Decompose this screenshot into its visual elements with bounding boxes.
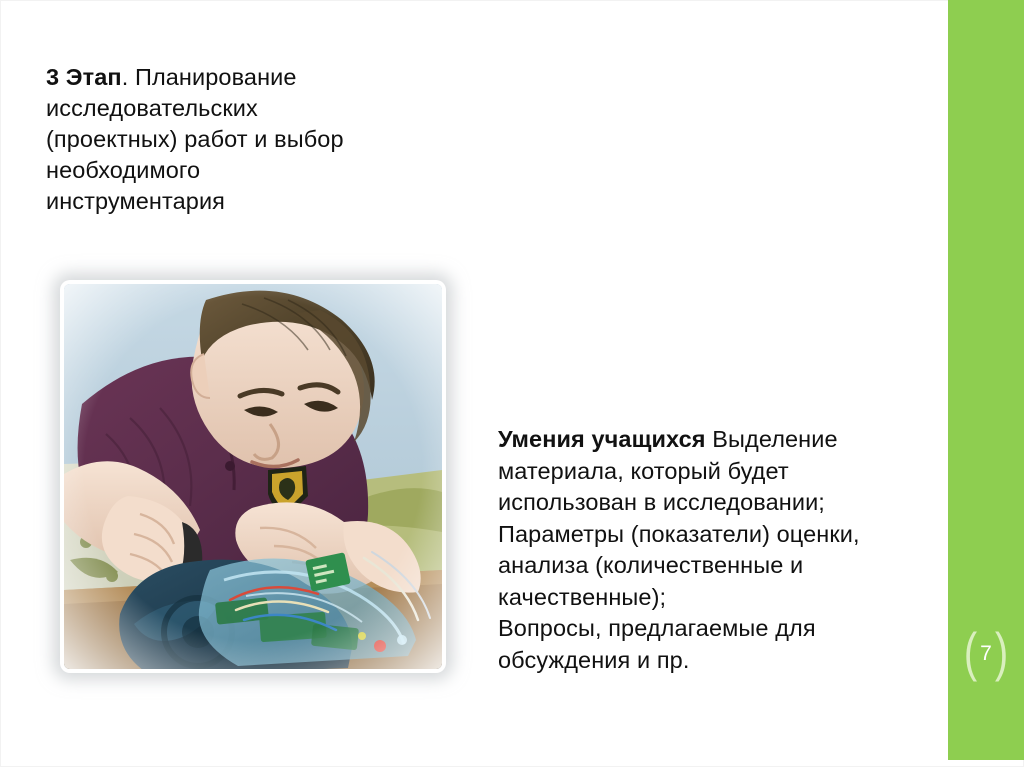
title-lead: 3 Этап: [46, 64, 122, 90]
body-line-3: Параметры (показатели) оценки,: [498, 519, 898, 551]
photo-boy-with-screwdriver: GUILDFORD: [64, 284, 442, 669]
left-bracket-icon: (: [964, 626, 977, 680]
body-line-6: Вопросы, предлагаемые для: [498, 613, 898, 645]
body-line-7: обсуждения и пр.: [498, 645, 898, 677]
photo-figure: GUILDFORD: [60, 280, 446, 673]
body-text: Умения учащихся Выделение материала, кот…: [498, 424, 898, 676]
body-line-5: качественные);: [498, 582, 898, 614]
page-number: 7: [980, 643, 992, 664]
page-number-indicator: ( 7 ): [948, 622, 1024, 684]
right-bracket-icon: ): [995, 626, 1008, 680]
body-line-4: анализа (количественные и: [498, 550, 898, 582]
page-title: 3 Этап. Планирование исследовательских (…: [46, 62, 346, 217]
slide: 3 Этап. Планирование исследовательских (…: [0, 0, 1024, 767]
body-line-2: использован в исследовании;: [498, 487, 898, 519]
body-line-0: Выделение: [706, 426, 838, 452]
body-line-1: материала, который будет: [498, 456, 898, 488]
body-lead: Умения учащихся: [498, 426, 706, 452]
